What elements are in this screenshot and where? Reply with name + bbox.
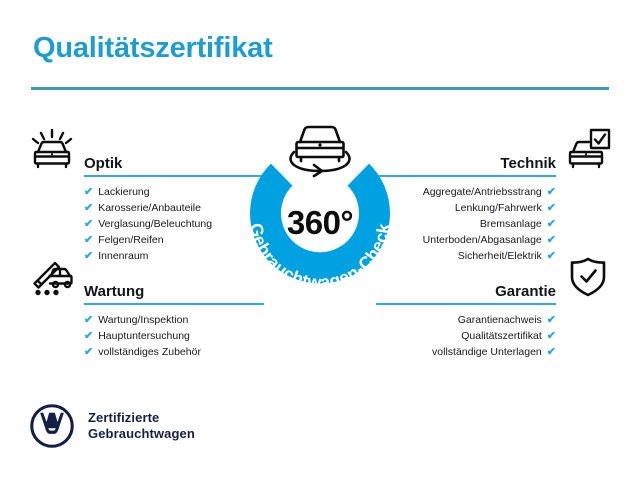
footer-brand-text: Zertifizierte Gebrauchtwagen — [88, 410, 195, 442]
section-optik-list: ✔Lackierung ✔Karosserie/Anbauteile ✔Verg… — [84, 184, 212, 264]
section-wartung-list: ✔Wartung/Inspektion ✔Hauptuntersuchung ✔… — [84, 312, 201, 360]
check-icon: ✔ — [547, 312, 556, 328]
check-icon: ✔ — [547, 328, 556, 344]
section-technik-list: Aggregate/Antriebsstrang✔ Lenkung/Fahrwe… — [423, 184, 556, 264]
check-icon: ✔ — [84, 328, 93, 344]
list-item: ✔Hauptuntersuchung — [84, 328, 201, 344]
section-wartung-title: Wartung — [84, 283, 144, 300]
list-item: Lenkung/Fahrwerk✔ — [423, 200, 556, 216]
list-item-label: Hauptuntersuchung — [98, 328, 190, 344]
list-item-label: Garantienachweis — [458, 312, 542, 328]
check-icon: ✔ — [84, 184, 93, 200]
list-item-label: Unterboden/Abgasanlage — [423, 232, 542, 248]
list-item: Bremsanlage✔ — [423, 216, 556, 232]
list-item-label: vollständige Unterlagen — [432, 344, 542, 360]
check-icon: ✔ — [84, 232, 93, 248]
footer-brand: Zertifizierte Gebrauchtwagen — [30, 404, 195, 448]
check-icon: ✔ — [84, 200, 93, 216]
list-item: ✔Lackierung — [84, 184, 212, 200]
check-icon: ✔ — [547, 200, 556, 216]
list-item: ✔Karosserie/Anbauteile — [84, 200, 212, 216]
check-icon: ✔ — [84, 344, 93, 360]
list-item: Aggregate/Antriebsstrang✔ — [423, 184, 556, 200]
check-icon: ✔ — [84, 312, 93, 328]
title-divider — [31, 87, 609, 90]
certificate-page: Qualitätszertifikat Optik — [0, 0, 640, 480]
shield-check-icon — [564, 256, 612, 298]
list-item-label: vollständiges Zubehör — [98, 344, 201, 360]
footer-line-2: Gebrauchtwagen — [88, 426, 195, 442]
section-optik-title: Optik — [84, 155, 122, 172]
list-item-label: Bremsanlage — [480, 216, 542, 232]
section-garantie-list: Garantienachweis✔ Qualitätszertifikat✔ v… — [432, 312, 556, 360]
list-item: ✔Verglasung/Beleuchtung — [84, 216, 212, 232]
vw-logo — [30, 404, 74, 448]
list-item-label: Lenkung/Fahrwerk — [455, 200, 542, 216]
list-item: Unterboden/Abgasanlage✔ — [423, 232, 556, 248]
section-technik-title: Technik — [500, 155, 556, 172]
list-item: vollständige Unterlagen✔ — [432, 344, 556, 360]
page-title: Qualitätszertifikat — [33, 32, 273, 65]
list-item: Garantienachweis✔ — [432, 312, 556, 328]
list-item-label: Aggregate/Antriebsstrang — [423, 184, 542, 200]
list-item-label: Qualitätszertifikat — [461, 328, 542, 344]
list-item: ✔Wartung/Inspektion — [84, 312, 201, 328]
list-item-label: Felgen/Reifen — [98, 232, 163, 248]
list-item-label: Karosserie/Anbauteile — [98, 200, 201, 216]
badge-360-check: Gebrauchtwagen-Check 360° — [224, 122, 416, 314]
list-item-label: Wartung/Inspektion — [98, 312, 188, 328]
check-icon: ✔ — [547, 184, 556, 200]
check-icon: ✔ — [547, 216, 556, 232]
section-garantie-title: Garantie — [495, 283, 556, 300]
list-item: ✔Felgen/Reifen — [84, 232, 212, 248]
car-rotate-icon — [278, 118, 362, 180]
car-shine-icon — [28, 128, 76, 170]
list-item-label: Verglasung/Beleuchtung — [98, 216, 212, 232]
car-checkbox-icon — [564, 128, 612, 170]
list-item: Qualitätszertifikat✔ — [432, 328, 556, 344]
check-icon: ✔ — [547, 232, 556, 248]
check-icon: ✔ — [84, 216, 93, 232]
check-icon: ✔ — [547, 344, 556, 360]
list-item: ✔vollständiges Zubehör — [84, 344, 201, 360]
list-item-label: Lackierung — [98, 184, 149, 200]
car-service-icon — [28, 256, 76, 298]
footer-line-1: Zertifizierte — [88, 410, 195, 426]
